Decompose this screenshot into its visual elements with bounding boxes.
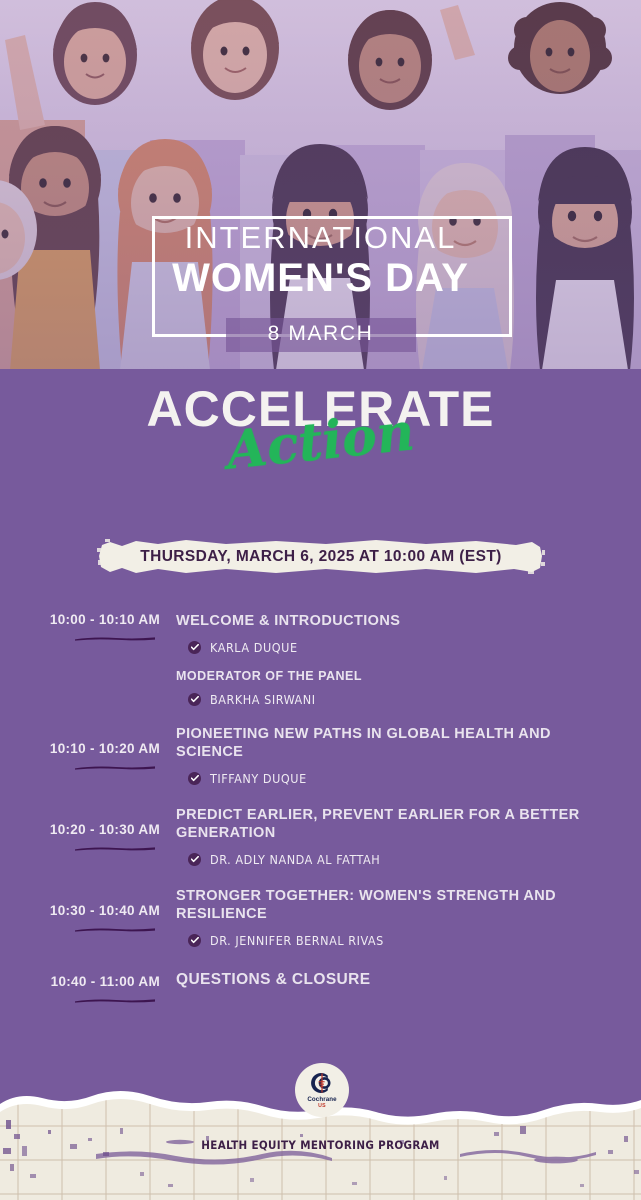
speaker-name: DR. JENNIFER BERNAL RIVAS xyxy=(210,933,384,948)
agenda-body-column: PREDICT EARLIER, PREVENT EARLIER FOR A B… xyxy=(160,806,641,867)
check-circle-icon xyxy=(188,641,201,654)
check-circle-icon xyxy=(188,853,201,866)
time-underline-stroke xyxy=(74,846,156,851)
session-title: PIONEETING NEW PATHS IN GLOBAL HEALTH AN… xyxy=(176,725,611,762)
agenda-time: 10:40 - 11:00 AM xyxy=(18,974,160,989)
speaker-item: KARLA DUQUE xyxy=(176,640,611,655)
cochrane-mark-icon xyxy=(310,1071,334,1095)
agenda-row: 10:10 - 10:20 AM PIONEETING NEW PATHS IN… xyxy=(0,725,641,786)
cochrane-logo: Cochrane US xyxy=(295,1063,349,1117)
session-title: STRONGER TOGETHER: WOMEN'S STRENGTH AND … xyxy=(176,887,611,924)
hero-line-womens-day: WOMEN'S DAY xyxy=(0,258,641,298)
agenda-body-column: WELCOME & INTRODUCTIONS KARLA DUQUE MODE… xyxy=(160,612,641,707)
time-underline-stroke xyxy=(74,636,156,641)
agenda-time: 10:30 - 10:40 AM xyxy=(18,903,160,918)
hero-banner: INTERNATIONAL WOMEN'S DAY 8 MARCH xyxy=(0,0,641,369)
speaker-item: DR. ADLY NANDA AL FATTAH xyxy=(176,852,611,867)
session-title: WELCOME & INTRODUCTIONS xyxy=(176,612,611,631)
speaker-name: KARLA DUQUE xyxy=(210,640,298,655)
agenda-row: 10:00 - 10:10 AM WELCOME & INTRODUCTIONS… xyxy=(0,612,641,707)
date-banner: THURSDAY, MARCH 6, 2025 AT 10:00 AM (EST… xyxy=(96,538,546,576)
speaker-item: BARKHA SIRWANI xyxy=(176,692,611,707)
check-circle-icon xyxy=(188,934,201,947)
hero-line-international: INTERNATIONAL xyxy=(0,222,641,253)
agenda-row: 10:20 - 10:30 AM PREDICT EARLIER, PREVEN… xyxy=(0,806,641,867)
agenda-time-column: 10:20 - 10:30 AM xyxy=(0,806,160,851)
agenda-row: 10:30 - 10:40 AM STRONGER TOGETHER: WOME… xyxy=(0,887,641,948)
agenda-time-column: 10:00 - 10:10 AM xyxy=(0,612,160,641)
check-circle-icon xyxy=(188,772,201,785)
hero-title-group: INTERNATIONAL WOMEN'S DAY xyxy=(0,222,641,298)
agenda-time-column: 10:30 - 10:40 AM xyxy=(0,887,160,932)
speaker-item: TIFFANY DUQUE xyxy=(176,771,611,786)
agenda-row: 10:40 - 11:00 AM QUESTIONS & CLOSURE xyxy=(0,970,641,1003)
time-underline-stroke xyxy=(74,998,156,1003)
agenda-time: 10:20 - 10:30 AM xyxy=(18,822,160,837)
agenda-body-column: QUESTIONS & CLOSURE xyxy=(160,970,641,990)
time-underline-stroke xyxy=(74,765,156,770)
agenda-time-column: 10:40 - 11:00 AM xyxy=(0,970,160,1003)
speaker-item: DR. JENNIFER BERNAL RIVAS xyxy=(176,933,611,948)
speaker-name: TIFFANY DUQUE xyxy=(210,771,307,786)
speaker-name: DR. ADLY NANDA AL FATTAH xyxy=(210,852,380,867)
time-underline-stroke xyxy=(74,927,156,932)
speaker-name: BARKHA SIRWANI xyxy=(210,692,316,707)
poster: INTERNATIONAL WOMEN'S DAY 8 MARCH ACCELE… xyxy=(0,0,641,1200)
agenda-list: 10:00 - 10:10 AM WELCOME & INTRODUCTIONS… xyxy=(0,612,641,1003)
cochrane-wordmark: Cochrane xyxy=(307,1096,336,1103)
agenda-time: 10:00 - 10:10 AM xyxy=(18,612,160,627)
footer-program-name: HEALTH EQUITY MENTORING PROGRAM xyxy=(0,1138,641,1152)
date-text: THURSDAY, MARCH 6, 2025 AT 10:00 AM (EST… xyxy=(96,548,546,566)
agenda-time: 10:10 - 10:20 AM xyxy=(18,741,160,756)
check-circle-icon xyxy=(188,693,201,706)
agenda-body-column: PIONEETING NEW PATHS IN GLOBAL HEALTH AN… xyxy=(160,725,641,786)
moderator-label: MODERATOR OF THE PANEL xyxy=(176,669,611,683)
agenda-body-column: STRONGER TOGETHER: WOMEN'S STRENGTH AND … xyxy=(160,887,641,948)
cochrane-region-label: US xyxy=(318,1103,326,1109)
agenda-time-column: 10:10 - 10:20 AM xyxy=(0,725,160,770)
theme-headline: ACCELERATE Action xyxy=(0,384,641,504)
hero-line-8-march: 8 MARCH xyxy=(0,322,641,346)
session-title: PREDICT EARLIER, PREVENT EARLIER FOR A B… xyxy=(176,806,611,843)
session-title: QUESTIONS & CLOSURE xyxy=(176,970,611,990)
